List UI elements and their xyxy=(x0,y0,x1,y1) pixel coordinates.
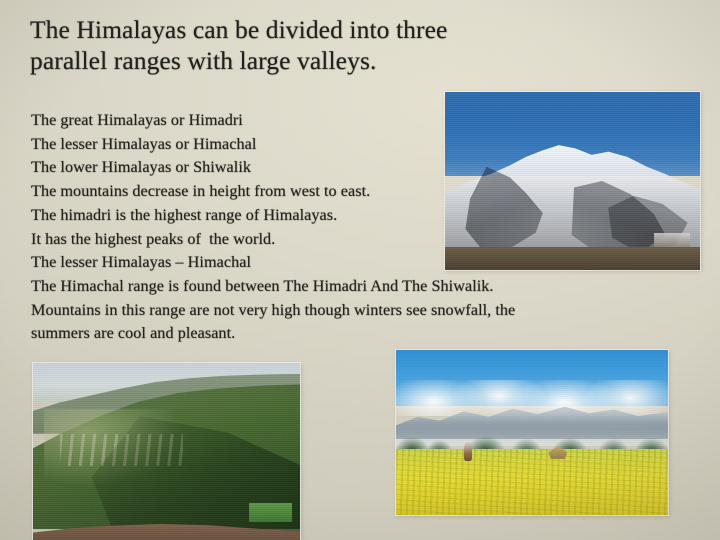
page-title-line-1: The Himalayas can be divided into three xyxy=(30,14,630,45)
green-hillside-photo xyxy=(33,363,300,540)
mustard-field-photo xyxy=(396,350,668,515)
photo-content xyxy=(396,350,668,515)
field-texture xyxy=(396,449,668,515)
body-line: summers are cool and pleasant. xyxy=(31,322,651,346)
photo-content xyxy=(33,363,300,540)
hut-shape xyxy=(654,233,690,247)
cloud-band xyxy=(396,380,668,416)
foreground-ridge xyxy=(445,247,700,270)
slide-canvas: The Himalayas can be divided into three … xyxy=(0,0,720,540)
green-field-patch xyxy=(249,503,292,522)
farmer-figure xyxy=(464,442,472,460)
page-title: The Himalayas can be divided into three … xyxy=(30,14,630,76)
body-line: The Himachal range is found between The … xyxy=(31,275,651,299)
page-title-line-2: parallel ranges with large valleys. xyxy=(30,45,630,76)
photo-content xyxy=(445,92,700,270)
body-line: Mountains in this range are not very hig… xyxy=(31,299,651,323)
snow-capped-peak-photo xyxy=(445,92,700,270)
